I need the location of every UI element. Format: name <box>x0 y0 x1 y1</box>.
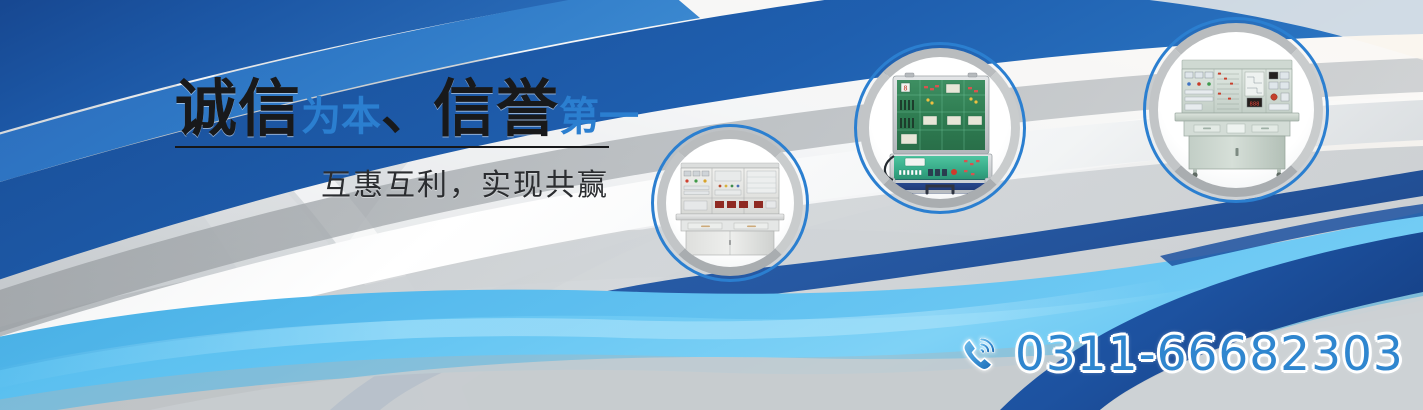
phone-number-text[interactable]: 0311-66682303 <box>1015 327 1404 382</box>
headline-seg-1: 诚信 <box>175 78 301 140</box>
product-circle-1[interactable] <box>651 124 809 282</box>
electrical-machine-control-test-bench-image: 888 <box>1162 36 1310 184</box>
product-ring-inner-2: 8 <box>860 48 1020 208</box>
product-ring-inner-3: 888 <box>1149 23 1323 197</box>
headline-seg-2: 为本 <box>301 97 381 137</box>
headline-seg-5: 第一 <box>559 97 639 137</box>
slogan-subtitle: 互惠互利，实现共赢 <box>175 160 609 204</box>
product-ring-outer-1 <box>651 124 809 282</box>
svg-text:8: 8 <box>903 85 907 93</box>
contact-phone[interactable]: 0311-66682303 <box>957 327 1404 382</box>
product-circle-2[interactable]: 8 <box>854 42 1026 214</box>
slogan-block: 诚信 为本 、 信誉 第一 互惠互利，实现共赢 <box>175 68 645 208</box>
product-ring-inner-1 <box>657 130 803 276</box>
headline-seg-4: 信誉 <box>433 78 559 140</box>
headline: 诚信 为本 、 信誉 第一 <box>175 68 645 140</box>
electrical-training-workbench-image <box>668 141 792 265</box>
product-ring-outer-2: 8 <box>854 42 1026 214</box>
product-ring-outer-3: 888 <box>1143 17 1329 203</box>
phone-call-icon[interactable] <box>957 333 1001 377</box>
portable-digital-circuit-trainer-case-image: 8 <box>872 60 1008 196</box>
svg-text:888: 888 <box>1250 102 1260 108</box>
promotional-banner: 诚信 为本 、 信誉 第一 互惠互利，实现共赢 <box>0 0 1423 410</box>
slogan-divider <box>175 146 609 148</box>
product-circle-3[interactable]: 888 <box>1143 17 1329 203</box>
headline-seg-3: 、 <box>381 86 433 138</box>
